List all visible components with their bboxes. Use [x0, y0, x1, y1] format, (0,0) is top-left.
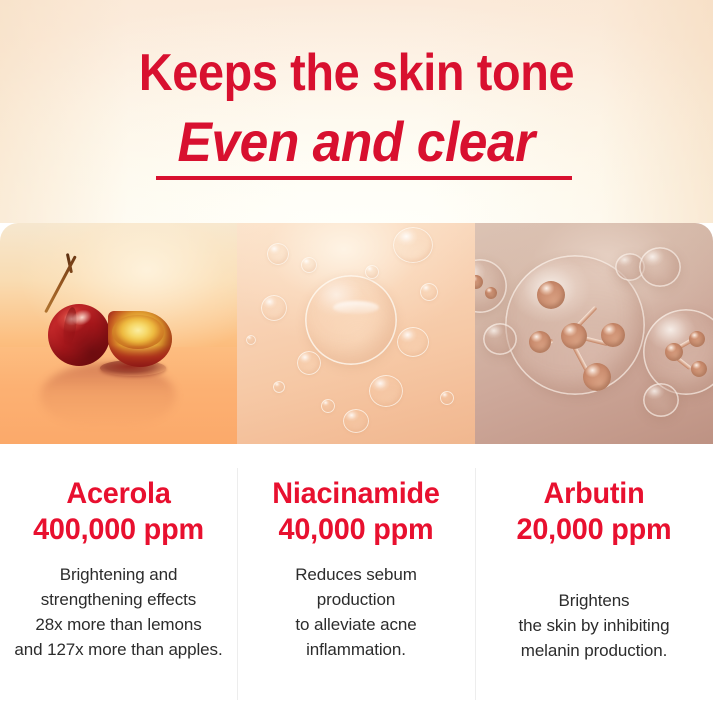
description-line: Brightening and — [0, 562, 237, 587]
main-bubble-highlight — [333, 301, 379, 314]
molecule-atom — [583, 363, 611, 391]
halved-cherry — [108, 311, 172, 367]
headline-underline — [156, 176, 572, 180]
molecule-atom — [529, 331, 551, 353]
molecule-atom-center — [561, 323, 587, 349]
description-line: melanin production. — [475, 638, 713, 663]
main-bubble — [305, 275, 397, 365]
description-line: the skin by inhibiting — [475, 613, 713, 638]
bubble-small — [365, 265, 379, 279]
column-divider — [237, 468, 238, 700]
bubble-small — [343, 409, 369, 433]
ingredient-ppm: 40,000 ppm — [242, 513, 470, 547]
description-line: inflammation. — [237, 637, 475, 662]
whole-cherry — [48, 304, 110, 366]
molecule-atom — [537, 281, 565, 309]
bubble-small — [440, 391, 454, 405]
acerola-cherry-photo — [0, 223, 237, 444]
ingredient-description: Brightens the skin by inhibiting melanin… — [475, 588, 713, 663]
headline-line-1: Keeps the skin tone — [36, 44, 678, 102]
headline-line-2: Even and clear — [178, 110, 535, 174]
ingredient-ppm: 400,000 ppm — [5, 513, 233, 547]
ingredient-ppm: 20,000 ppm — [480, 513, 708, 547]
ingredient-image-strip — [0, 223, 713, 444]
ingredient-name: Niacinamide — [242, 477, 470, 511]
molecule-atom — [691, 361, 707, 377]
bubble-medium — [639, 247, 681, 287]
bubble-small — [420, 283, 438, 301]
ingredient-description: Brightening and strengthening effects 28… — [0, 562, 237, 662]
ingredient-columns: Acerola 400,000 ppm Brightening and stre… — [0, 444, 713, 713]
bubble-small — [267, 243, 289, 265]
ingredient-column-acerola: Acerola 400,000 ppm Brightening and stre… — [0, 444, 237, 713]
description-line: strengthening effects — [0, 587, 237, 612]
bubble-medium — [369, 375, 403, 407]
description-line: production — [237, 587, 475, 612]
molecule-atom — [601, 323, 625, 347]
description-line: 28x more than lemons — [0, 612, 237, 637]
ingredient-description: Reduces sebum production to alleviate ac… — [237, 562, 475, 662]
bubble-small — [643, 383, 679, 417]
bubble-small — [273, 381, 285, 393]
ingredient-column-niacinamide: Niacinamide 40,000 ppm Reduces sebum pro… — [237, 444, 475, 713]
molecule-atom — [485, 287, 497, 299]
bubble-medium — [397, 327, 429, 357]
bubble-small — [297, 351, 321, 375]
bubble-small — [246, 335, 256, 345]
description-line: Brightens — [475, 588, 713, 613]
column-divider — [475, 468, 476, 700]
serum-bubbles-photo — [237, 223, 475, 444]
description-line: and 127x more than apples. — [0, 637, 237, 662]
molecule-bubbles-photo — [475, 223, 713, 444]
description-line: to alleviate acne — [237, 612, 475, 637]
header-banner: Keeps the skin tone Even and clear — [0, 0, 713, 223]
ingredient-column-arbutin: Arbutin 20,000 ppm Brightens the skin by… — [475, 444, 713, 713]
ingredient-name: Acerola — [5, 477, 233, 511]
bubble-small — [483, 323, 517, 355]
bubble-small — [321, 399, 335, 413]
bubble-small — [261, 295, 287, 321]
headline-line-2-wrap: Even and clear — [0, 110, 713, 174]
molecule-atom — [689, 331, 705, 347]
description-line: Reduces sebum — [237, 562, 475, 587]
infographic-page: Keeps the skin tone Even and clear — [0, 0, 713, 713]
bubble-small — [301, 257, 317, 273]
ingredient-name: Arbutin — [480, 477, 708, 511]
bubble-medium — [393, 227, 433, 263]
molecule-atom — [665, 343, 683, 361]
cherry-flesh — [112, 315, 164, 349]
